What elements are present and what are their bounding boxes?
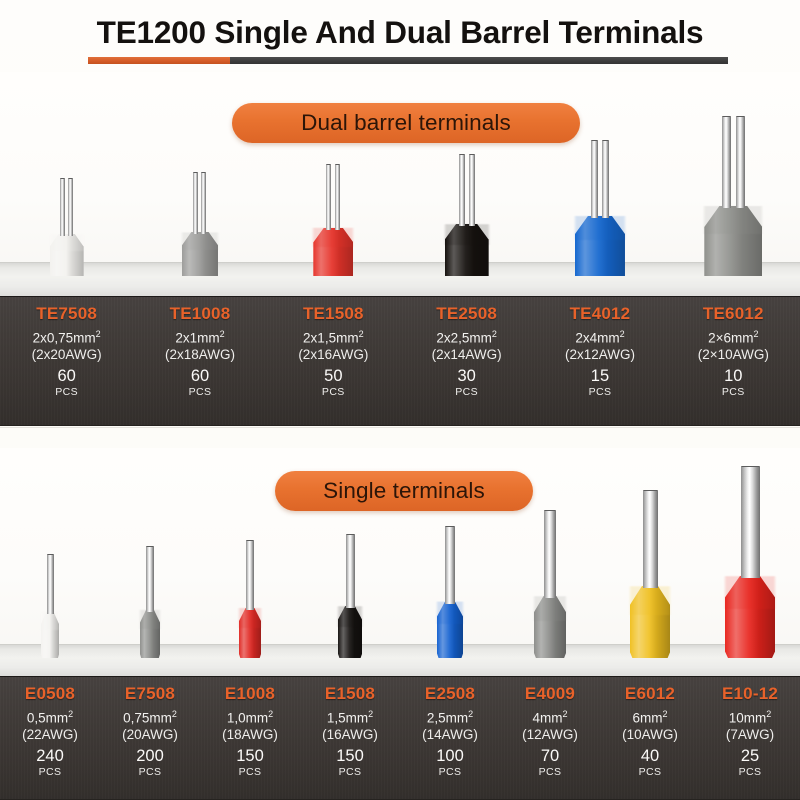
awg-spec: (2x20AWG) — [32, 347, 102, 362]
quantity-value: 60 — [191, 368, 209, 385]
spec-cell-te7508: TE75082x0,75mm2(2x20AWG)60PCS — [0, 297, 133, 425]
terminal-barrel-tube — [201, 172, 206, 234]
quantity-unit: PCS — [639, 766, 662, 778]
cross-section-spec: 6mm2 — [632, 709, 667, 726]
awg-spec: (7AWG) — [726, 727, 774, 742]
model-code: TE4012 — [570, 304, 631, 324]
terminal-insulated-collar — [704, 206, 762, 276]
page-title-block: TE1200 Single And Dual Barrel Terminals — [0, 14, 800, 51]
dual-barrel-spec-panel: TE75082x0,75mm2(2x20AWG)60PCSTE10082x1mm… — [0, 296, 800, 426]
dual-barrel-section-banner: Dual barrel terminals — [232, 103, 580, 143]
quantity-unit: PCS — [539, 766, 562, 778]
quantity-unit: PCS — [239, 766, 262, 778]
quantity-value: 150 — [236, 748, 264, 765]
spec-cell-te1008: TE10082x1mm2(2x18AWG)60PCS — [133, 297, 266, 425]
unit-exponent: 2 — [754, 329, 759, 339]
quantity-unit: PCS — [39, 766, 62, 778]
unit-exponent: 2 — [766, 709, 771, 719]
terminal-insulated-collar — [534, 596, 566, 658]
terminal-metal-barrels — [193, 172, 206, 234]
awg-spec: (2x18AWG) — [165, 347, 235, 362]
product-cell — [100, 458, 200, 658]
dual-barrel-terminal-te4012 — [575, 140, 625, 276]
terminal-barrel-tube — [47, 554, 54, 614]
quantity-unit: PCS — [55, 386, 78, 398]
terminal-barrel-tube — [469, 154, 475, 226]
spec-cell-te2508: TE25082x2,5mm2(2x14AWG)30PCS — [400, 297, 533, 425]
title-rule-dark-segment — [230, 57, 728, 64]
terminal-barrel-tube — [68, 178, 73, 236]
unit-exponent: 2 — [68, 709, 73, 719]
quantity-unit: PCS — [739, 766, 762, 778]
model-code: TE1508 — [303, 304, 364, 324]
terminal-barrel-tube — [736, 116, 745, 208]
awg-spec: (20AWG) — [122, 727, 178, 742]
terminal-insulated-collar — [41, 612, 59, 658]
single-terminal-e4009 — [534, 510, 566, 658]
terminal-metal-barrels — [459, 154, 475, 226]
spec-cell-te6012: TE60122×6mm2(2×10AWG)10PCS — [667, 297, 800, 425]
cross-section-spec: 2,5mm2 — [427, 709, 473, 726]
quantity-value: 70 — [541, 748, 559, 765]
cross-section-spec: 2x1mm2 — [175, 329, 224, 346]
cross-section-spec: 2x2,5mm2 — [436, 329, 497, 346]
product-cell — [600, 458, 700, 658]
spec-cell-e1508: E15081,5mm2(16AWG)150PCS — [300, 677, 400, 799]
single-terminal-section-banner: Single terminals — [275, 471, 533, 511]
single-terminal-e1008 — [239, 540, 261, 658]
cross-section-spec: 1,5mm2 — [327, 709, 373, 726]
terminal-barrel-tube — [445, 526, 455, 604]
terminal-metal-barrels — [445, 526, 455, 604]
terminal-barrel-tube — [326, 164, 331, 230]
single-terminal-e2508 — [437, 526, 463, 658]
terminal-barrel-tube — [146, 546, 154, 612]
cross-section-spec: 4mm2 — [532, 709, 567, 726]
model-code: TE7508 — [36, 304, 97, 324]
spec-cell-e0508: E05080,5mm2(22AWG)240PCS — [0, 677, 100, 799]
terminal-insulated-collar — [313, 228, 353, 276]
single-terminal-e10-12 — [725, 466, 775, 658]
quantity-unit: PCS — [322, 386, 345, 398]
single-terminal-spec-panel: E05080,5mm2(22AWG)240PCSE75080,75mm2(20A… — [0, 676, 800, 800]
awg-spec: (12AWG) — [522, 727, 578, 742]
quantity-value: 10 — [724, 368, 742, 385]
cross-section-spec: 2x4mm2 — [575, 329, 624, 346]
infographic-page: TE1200 Single And Dual Barrel Terminals … — [0, 0, 800, 800]
terminal-insulated-collar — [182, 232, 218, 276]
model-code: TE1008 — [170, 304, 231, 324]
spec-cell-e4009: E40094mm2(12AWG)70PCS — [500, 677, 600, 799]
model-code: TE2508 — [436, 304, 497, 324]
awg-spec: (14AWG) — [422, 727, 478, 742]
terminal-insulated-collar — [725, 576, 775, 658]
terminal-barrel-tube — [722, 116, 731, 208]
quantity-value: 15 — [591, 368, 609, 385]
unit-exponent: 2 — [562, 709, 567, 719]
model-code: E10-12 — [722, 684, 778, 704]
quantity-unit: PCS — [439, 766, 462, 778]
single-terminal-e1508 — [338, 534, 362, 658]
single-terminal-banner-label: Single terminals — [323, 478, 485, 504]
model-code: E6012 — [625, 684, 675, 704]
terminal-metal-barrels — [146, 546, 154, 612]
unit-exponent: 2 — [96, 329, 101, 339]
product-cell — [700, 458, 800, 658]
terminal-barrel-tube — [591, 140, 598, 218]
awg-spec: (2x16AWG) — [298, 347, 368, 362]
quantity-value: 40 — [641, 748, 659, 765]
dual-barrel-terminal-te1508 — [313, 164, 353, 276]
cross-section-spec: 2x0,75mm2 — [33, 329, 101, 346]
model-code: E2508 — [425, 684, 475, 704]
awg-spec: (22AWG) — [22, 727, 78, 742]
title-rule — [88, 57, 728, 64]
terminal-metal-barrels — [741, 466, 760, 578]
spec-cell-e7508: E75080,75mm2(20AWG)200PCS — [100, 677, 200, 799]
terminal-insulated-collar — [50, 234, 84, 276]
terminal-barrel-tube — [602, 140, 609, 218]
terminal-insulated-collar — [239, 608, 261, 658]
unit-exponent: 2 — [368, 709, 373, 719]
quantity-unit: PCS — [139, 766, 162, 778]
dual-barrel-terminal-te7508 — [50, 178, 84, 276]
product-cell — [667, 86, 800, 276]
terminal-metal-barrels — [47, 554, 54, 614]
model-code: TE6012 — [703, 304, 764, 324]
cross-section-spec: 0,5mm2 — [27, 709, 73, 726]
quantity-value: 150 — [336, 748, 364, 765]
awg-spec: (2×10AWG) — [698, 347, 769, 362]
terminal-insulated-collar — [445, 224, 489, 276]
spec-cell-te4012: TE40122x4mm2(2x12AWG)15PCS — [533, 297, 666, 425]
terminal-barrel-tube — [643, 490, 658, 588]
unit-exponent: 2 — [620, 329, 625, 339]
terminal-barrel-tube — [459, 154, 465, 226]
spec-cell-e1008: E10081,0mm2(18AWG)150PCS — [200, 677, 300, 799]
terminal-barrel-tube — [346, 534, 355, 608]
unit-exponent: 2 — [359, 329, 364, 339]
product-cell — [0, 86, 133, 276]
cross-section-spec: 0,75mm2 — [123, 709, 177, 726]
terminal-metal-barrels — [591, 140, 609, 218]
cross-section-spec: 2x1,5mm2 — [303, 329, 364, 346]
unit-exponent: 2 — [492, 329, 497, 339]
unit-exponent: 2 — [268, 709, 273, 719]
model-code: E1508 — [325, 684, 375, 704]
terminal-insulated-collar — [140, 610, 160, 658]
awg-spec: (2x14AWG) — [432, 347, 502, 362]
quantity-value: 240 — [36, 748, 64, 765]
spec-cell-te1508: TE15082x1,5mm2(2x16AWG)50PCS — [267, 297, 400, 425]
spec-cell-e10-12: E10-1210mm2(7AWG)25PCS — [700, 677, 800, 799]
product-cell — [0, 458, 100, 658]
cross-section-spec: 10mm2 — [729, 709, 772, 726]
terminal-barrel-tube — [246, 540, 254, 610]
model-code: E4009 — [525, 684, 575, 704]
terminal-metal-barrels — [346, 534, 355, 608]
title-rule-accent-segment — [88, 57, 230, 64]
awg-spec: (16AWG) — [322, 727, 378, 742]
quantity-unit: PCS — [189, 386, 212, 398]
quantity-value: 60 — [57, 368, 75, 385]
quantity-unit: PCS — [722, 386, 745, 398]
terminal-barrel-tube — [60, 178, 65, 236]
terminal-barrel-tube — [741, 466, 760, 578]
terminal-barrel-tube — [193, 172, 198, 234]
terminal-metal-barrels — [326, 164, 340, 230]
awg-spec: (10AWG) — [622, 727, 678, 742]
unit-exponent: 2 — [220, 329, 225, 339]
model-code: E0508 — [25, 684, 75, 704]
terminal-metal-barrels — [544, 510, 556, 598]
quantity-unit: PCS — [455, 386, 478, 398]
section-divider — [0, 427, 800, 428]
quantity-value: 200 — [136, 748, 164, 765]
terminal-metal-barrels — [246, 540, 254, 610]
spec-cell-e6012: E60126mm2(10AWG)40PCS — [600, 677, 700, 799]
model-code: E7508 — [125, 684, 175, 704]
terminal-barrel-tube — [335, 164, 340, 230]
terminal-metal-barrels — [60, 178, 73, 236]
cross-section-spec: 2×6mm2 — [708, 329, 758, 346]
dual-barrel-terminal-te6012 — [704, 116, 762, 276]
quantity-value: 50 — [324, 368, 342, 385]
awg-spec: (2x12AWG) — [565, 347, 635, 362]
terminal-metal-barrels — [643, 490, 658, 588]
spec-cell-e2508: E25082,5mm2(14AWG)100PCS — [400, 677, 500, 799]
single-terminal-e7508 — [140, 546, 160, 658]
unit-exponent: 2 — [468, 709, 473, 719]
terminal-insulated-collar — [575, 216, 625, 276]
page-title: TE1200 Single And Dual Barrel Terminals — [0, 14, 800, 51]
terminal-barrel-tube — [544, 510, 556, 598]
terminal-insulated-collar — [630, 586, 670, 658]
terminal-insulated-collar — [338, 606, 362, 658]
dual-barrel-terminal-te1008 — [182, 172, 218, 276]
single-terminal-e0508 — [41, 554, 59, 658]
quantity-value: 25 — [741, 748, 759, 765]
quantity-value: 30 — [457, 368, 475, 385]
single-terminal-e6012 — [630, 490, 670, 658]
awg-spec: (18AWG) — [222, 727, 278, 742]
cross-section-spec: 1,0mm2 — [227, 709, 273, 726]
unit-exponent: 2 — [172, 709, 177, 719]
dual-barrel-terminal-te2508 — [445, 154, 489, 276]
model-code: E1008 — [225, 684, 275, 704]
dual-barrel-banner-label: Dual barrel terminals — [301, 110, 511, 136]
unit-exponent: 2 — [662, 709, 667, 719]
terminal-insulated-collar — [437, 602, 463, 658]
terminal-metal-barrels — [722, 116, 745, 208]
quantity-value: 100 — [436, 748, 464, 765]
quantity-unit: PCS — [589, 386, 612, 398]
quantity-unit: PCS — [339, 766, 362, 778]
